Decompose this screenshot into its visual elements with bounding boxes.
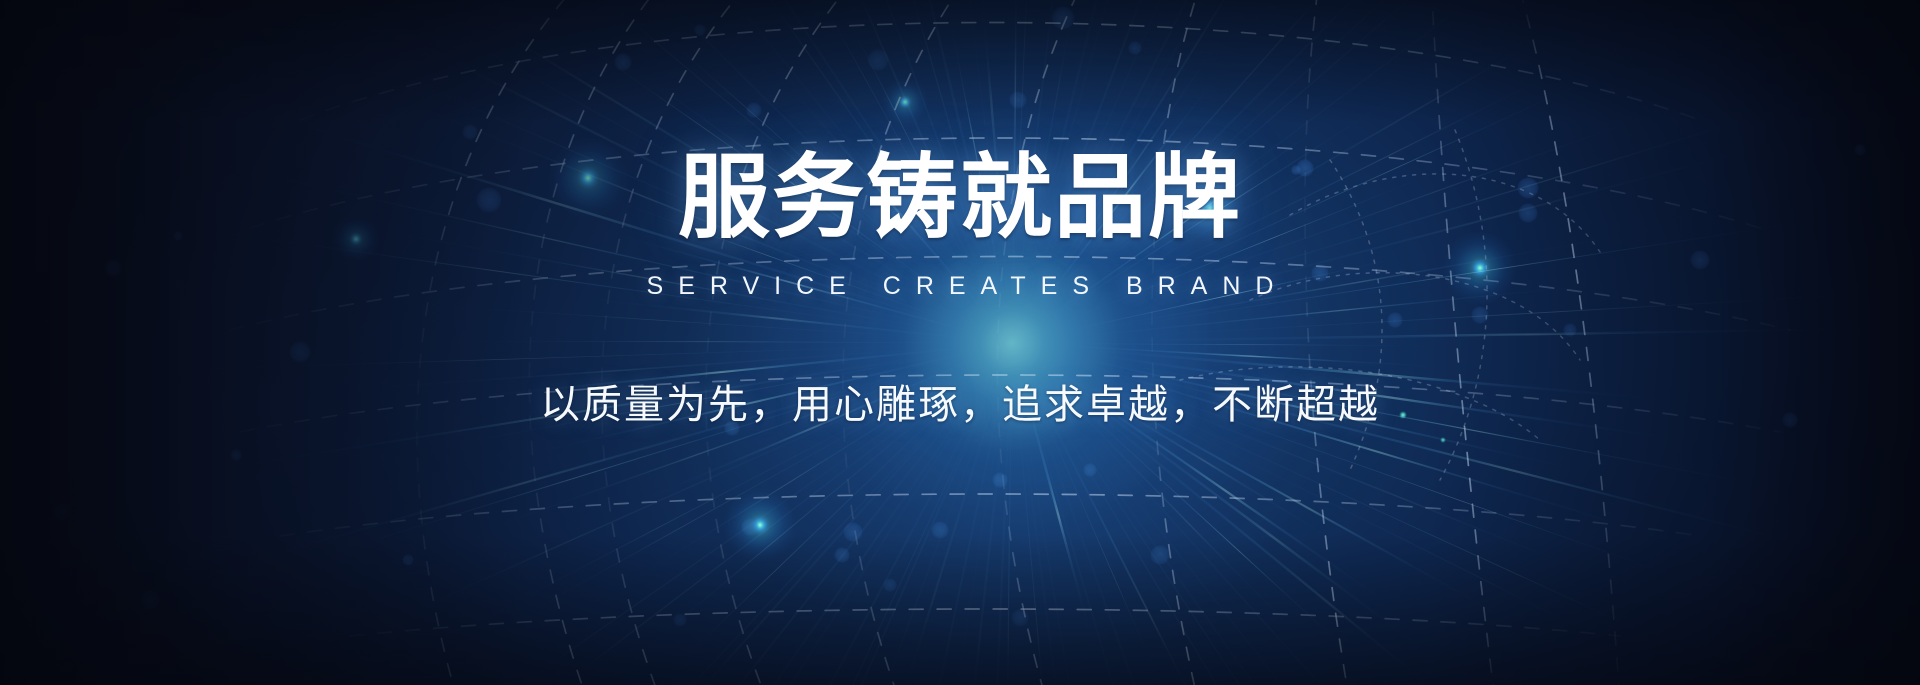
banner-title-english: SERVICE CREATES BRAND <box>0 272 1920 301</box>
hero-banner: 服务铸就品牌 SERVICE CREATES BRAND 以质量为先，用心雕琢，… <box>0 0 1920 685</box>
banner-title-chinese: 服务铸就品牌 <box>0 152 1920 244</box>
banner-tagline: 以质量为先，用心雕琢，追求卓越，不断超越 <box>0 372 1920 430</box>
background-vignette <box>0 0 1920 685</box>
